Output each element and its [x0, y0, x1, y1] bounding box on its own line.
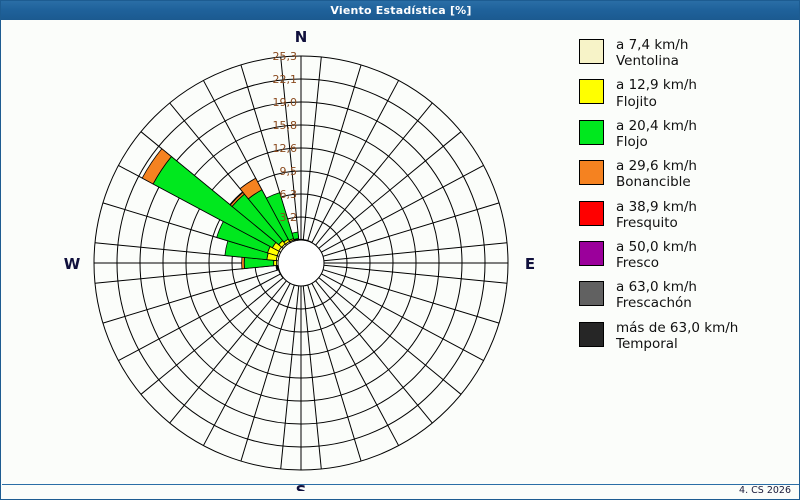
grid-spoke — [308, 285, 361, 461]
legend-speed-label: a 63,0 km/h — [616, 279, 697, 295]
legend-name-label: Fresco — [616, 255, 697, 271]
legend-color-swatch — [579, 281, 604, 306]
legend-color-swatch — [579, 160, 604, 185]
legend-label-group: a 20,4 km/hFlojo — [616, 118, 697, 150]
legend-name-label: Flojo — [616, 134, 697, 150]
radial-tick-label: 6,3 — [280, 188, 298, 201]
window-title-bar: Viento Estadística [%] — [1, 1, 800, 20]
legend-item[interactable]: a 12,9 km/hFlojito — [579, 77, 794, 109]
radial-tick-label: 22,1 — [273, 73, 298, 86]
legend-color-swatch — [579, 322, 604, 347]
legend-item[interactable]: a 20,4 km/hFlojo — [579, 118, 794, 150]
grid-spoke — [103, 270, 279, 323]
legend-color-swatch — [579, 79, 604, 104]
legend-item[interactable]: más de 63,0 km/hTemporal — [579, 320, 794, 352]
legend-color-swatch — [579, 201, 604, 226]
legend-label-group: a 29,6 km/hBonancible — [616, 158, 697, 190]
legend-color-swatch — [579, 120, 604, 145]
legend-item[interactable]: a 7,4 km/hVentolina — [579, 37, 794, 69]
legend-name-label: Frescachón — [616, 295, 697, 311]
legend-item[interactable]: a 63,0 km/hFrescachón — [579, 279, 794, 311]
grid-spoke — [323, 203, 499, 256]
legend-color-swatch — [579, 241, 604, 266]
compass-label-w: W — [64, 255, 81, 273]
wind-rose-svg: 3,26,39,512,615,819,022,125,3NESW — [1, 21, 566, 491]
legend-item[interactable]: a 38,9 km/hFresquito — [579, 199, 794, 231]
grid-spoke — [323, 270, 499, 323]
wind-rose-chart: 3,26,39,512,615,819,022,125,3NESW — [1, 21, 566, 491]
grid-spoke — [308, 65, 361, 241]
legend-name-label: Bonancible — [616, 174, 697, 190]
wind-rose-window: Viento Estadística [%] 3,26,39,512,615,8… — [0, 0, 800, 500]
radial-tick-label: 3,2 — [280, 211, 298, 224]
radial-tick-label: 9,5 — [280, 165, 298, 178]
compass-label-e: E — [525, 255, 535, 273]
legend-speed-label: más de 63,0 km/h — [616, 320, 738, 336]
legend-name-label: Flojito — [616, 94, 697, 110]
legend-item[interactable]: a 29,6 km/hBonancible — [579, 158, 794, 190]
radial-tick-label: 15,8 — [273, 119, 298, 132]
legend-name-label: Fresquito — [616, 215, 697, 231]
petal-segment — [299, 239, 304, 240]
legend: a 7,4 km/hVentolinaa 12,9 km/hFlojitoa 2… — [579, 37, 794, 360]
legend-label-group: a 50,0 km/hFresco — [616, 239, 697, 271]
radial-tick-label: 19,0 — [273, 96, 298, 109]
footer-divider — [2, 484, 799, 485]
legend-speed-label: a 29,6 km/h — [616, 158, 697, 174]
footer-text: 4. CS 2026 — [739, 485, 791, 496]
legend-speed-label: a 50,0 km/h — [616, 239, 697, 255]
radial-tick-label: 12,6 — [273, 142, 298, 155]
legend-label-group: a 12,9 km/hFlojito — [616, 77, 697, 109]
polar-grid — [94, 56, 508, 470]
legend-label-group: más de 63,0 km/hTemporal — [616, 320, 738, 352]
petal-segment — [242, 257, 245, 269]
page-title: Viento Estadística [%] — [330, 4, 471, 17]
legend-item[interactable]: a 50,0 km/hFresco — [579, 239, 794, 271]
legend-speed-label: a 38,9 km/h — [616, 199, 697, 215]
legend-name-label: Ventolina — [616, 53, 688, 69]
grid-spoke — [241, 285, 294, 461]
legend-label-group: a 63,0 km/hFrescachón — [616, 279, 697, 311]
compass-label-n: N — [295, 28, 308, 46]
legend-name-label: Temporal — [616, 336, 738, 352]
legend-speed-label: a 12,9 km/h — [616, 77, 697, 93]
legend-speed-label: a 20,4 km/h — [616, 118, 697, 134]
legend-label-group: a 38,9 km/hFresquito — [616, 199, 697, 231]
legend-speed-label: a 7,4 km/h — [616, 37, 688, 53]
radial-tick-label: 25,3 — [273, 50, 298, 63]
legend-label-group: a 7,4 km/hVentolina — [616, 37, 688, 69]
legend-color-swatch — [579, 39, 604, 64]
